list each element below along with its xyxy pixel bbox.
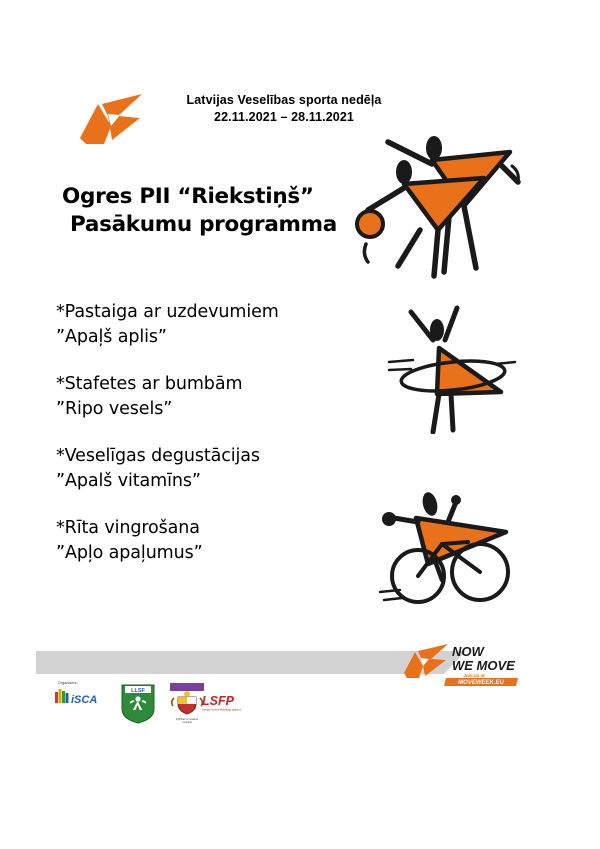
figure-with-hula-hoop-illustration — [383, 298, 529, 434]
title-line-1: Ogres PII “Riekstiņš” — [62, 183, 362, 211]
activity-name: *Pastaiga ar uzdevumiem — [56, 300, 376, 325]
svg-text:NOW: NOW — [452, 644, 486, 659]
poster-title: Ogres PII “Riekstiņš” Pasākumu programma — [62, 183, 362, 239]
list-item: *Pastaiga ar uzdevumiem ”Apaļš aplis” — [56, 300, 376, 350]
title-line-2: Pasākumu programma — [62, 211, 362, 239]
svg-text:MOVEWEEK.EU: MOVEWEEK.EU — [458, 680, 504, 686]
isca-logo: iSCA — [54, 688, 110, 708]
svg-text:LSFP: LSFP — [202, 694, 235, 708]
activity-name: *Stafetes ar bumbām — [56, 372, 376, 397]
activity-name: *Veselīgas degustācijas — [56, 444, 376, 469]
activity-name: *Rīta vingrošana — [56, 516, 376, 541]
now-we-move-badge: NOW WE MOVE Join us at MOVEWEEK.EU — [400, 640, 522, 686]
llsf-shield-logo: LLSF — [120, 681, 156, 725]
list-item: *Stafetes ar bumbām ”Ripo vesels” — [56, 372, 376, 422]
header-title-group: Latvijas Veselības sporta nedēļa 22.11.2… — [160, 92, 408, 126]
activity-subtitle: ”Apalš vitamīns” — [56, 469, 376, 494]
program-list: *Pastaiga ar uzdevumiem ”Apaļš aplis” *S… — [56, 300, 376, 566]
poster-page: Latvijas Veselības sporta nedēļa 22.11.2… — [0, 0, 600, 849]
svg-text:LLSF: LLSF — [131, 688, 145, 694]
activity-subtitle: ”Ripo vesels” — [56, 397, 376, 422]
event-name: Latvijas Veselības sporta nedēļa — [160, 92, 408, 109]
event-dates: 22.11.2021 – 28.11.2021 — [160, 109, 408, 126]
list-item: *Rīta vingrošana ”Apļo apaļumus” — [56, 516, 376, 566]
now-we-move-arrow-logo — [78, 88, 144, 144]
organisers-label: Organisers: — [58, 681, 78, 685]
lsfp-logo: LSFP Latvijas Sporta federāciju padome — [200, 693, 262, 713]
figure-on-bicycle-illustration — [376, 486, 534, 612]
svg-text:WE MOVE: WE MOVE — [452, 658, 515, 673]
svg-text:Join us at: Join us at — [463, 673, 485, 678]
activity-subtitle: ”Apļo apaļumus” — [56, 541, 376, 566]
svg-text:ministrija: ministrija — [182, 721, 192, 724]
list-item: *Veselīgas degustācijas ”Apalš vitamīns” — [56, 444, 376, 494]
organiser-logos: Organisers: iSCA LLSF — [54, 681, 294, 723]
activity-subtitle: ”Apaļš aplis” — [56, 325, 376, 350]
svg-text:iSCA: iSCA — [71, 694, 97, 706]
two-figures-with-ball-illustration — [352, 126, 540, 284]
svg-text:Latvijas Sporta federāciju pad: Latvijas Sporta federāciju padome — [202, 708, 242, 712]
